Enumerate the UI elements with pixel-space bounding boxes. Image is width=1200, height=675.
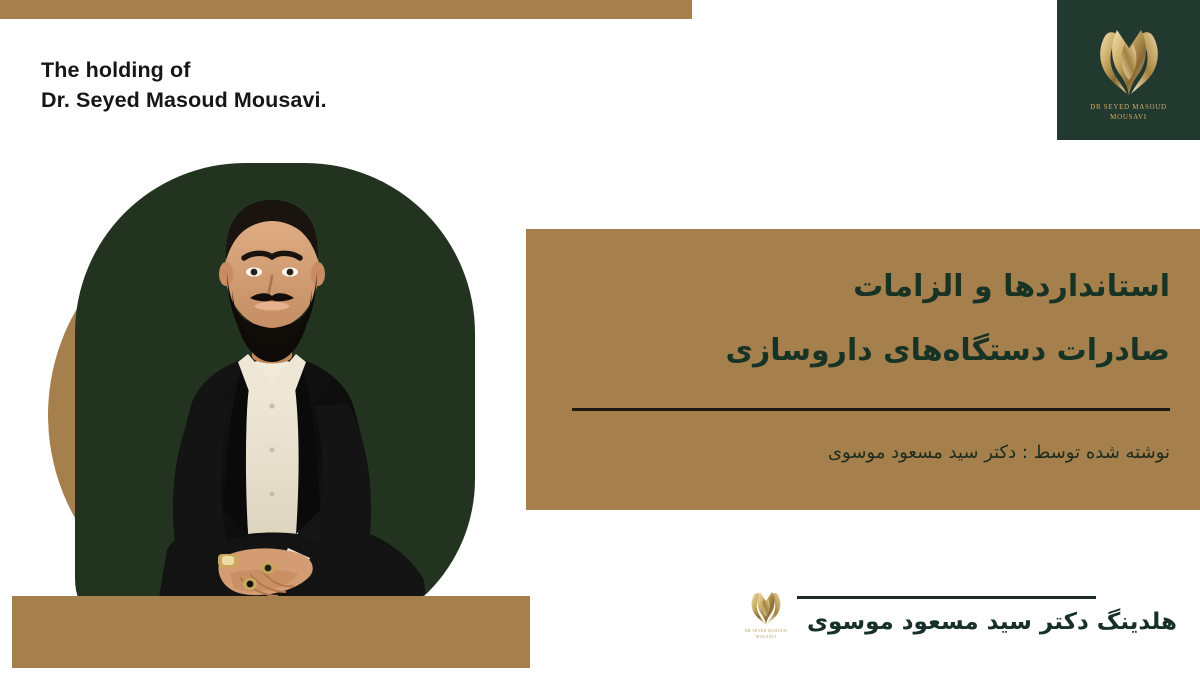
title-line-1: استانداردها و الزامات	[526, 255, 1170, 319]
mousavi-flame-emblem-icon	[1093, 18, 1165, 98]
footer-divider-rule	[797, 596, 1096, 599]
author-byline: نوشته شده توسط : دکتر سید مسعود موسوی	[550, 440, 1170, 466]
english-heading: The holding of Dr. Seyed Masoud Mousavi.	[41, 55, 661, 115]
cover-slide: The holding of Dr. Seyed Masoud Mousavi.	[0, 0, 1200, 675]
footer-logo-caption: DR SEYED MASOUD MOUSAVI	[745, 628, 787, 639]
title-panel: استانداردها و الزامات صادرات دستگاه‌های …	[526, 229, 1200, 510]
english-heading-line2: Dr. Seyed Masoud Mousavi.	[41, 85, 661, 115]
english-heading-line1: The holding of	[41, 58, 190, 82]
footer-brand-logo: DR SEYED MASOUD MOUSAVI	[742, 586, 790, 648]
brand-logo-caption: DR SEYED MASOUD MOUSAVI	[1090, 103, 1167, 122]
title-divider-rule	[572, 408, 1170, 411]
portrait-photo	[72, 150, 472, 650]
mousavi-flame-emblem-icon	[748, 586, 784, 626]
top-gold-accent-bar	[0, 0, 692, 19]
footer-brand-text: هلدینگ دکتر سید مسعود موسوی	[797, 605, 1177, 639]
brand-logo-tile: DR SEYED MASOUD MOUSAVI	[1057, 0, 1200, 140]
hero-composition	[10, 150, 530, 670]
title-line-2: صادرات دستگاه‌های داروسازی	[526, 319, 1170, 383]
bottom-gold-accent-bar	[12, 596, 530, 668]
